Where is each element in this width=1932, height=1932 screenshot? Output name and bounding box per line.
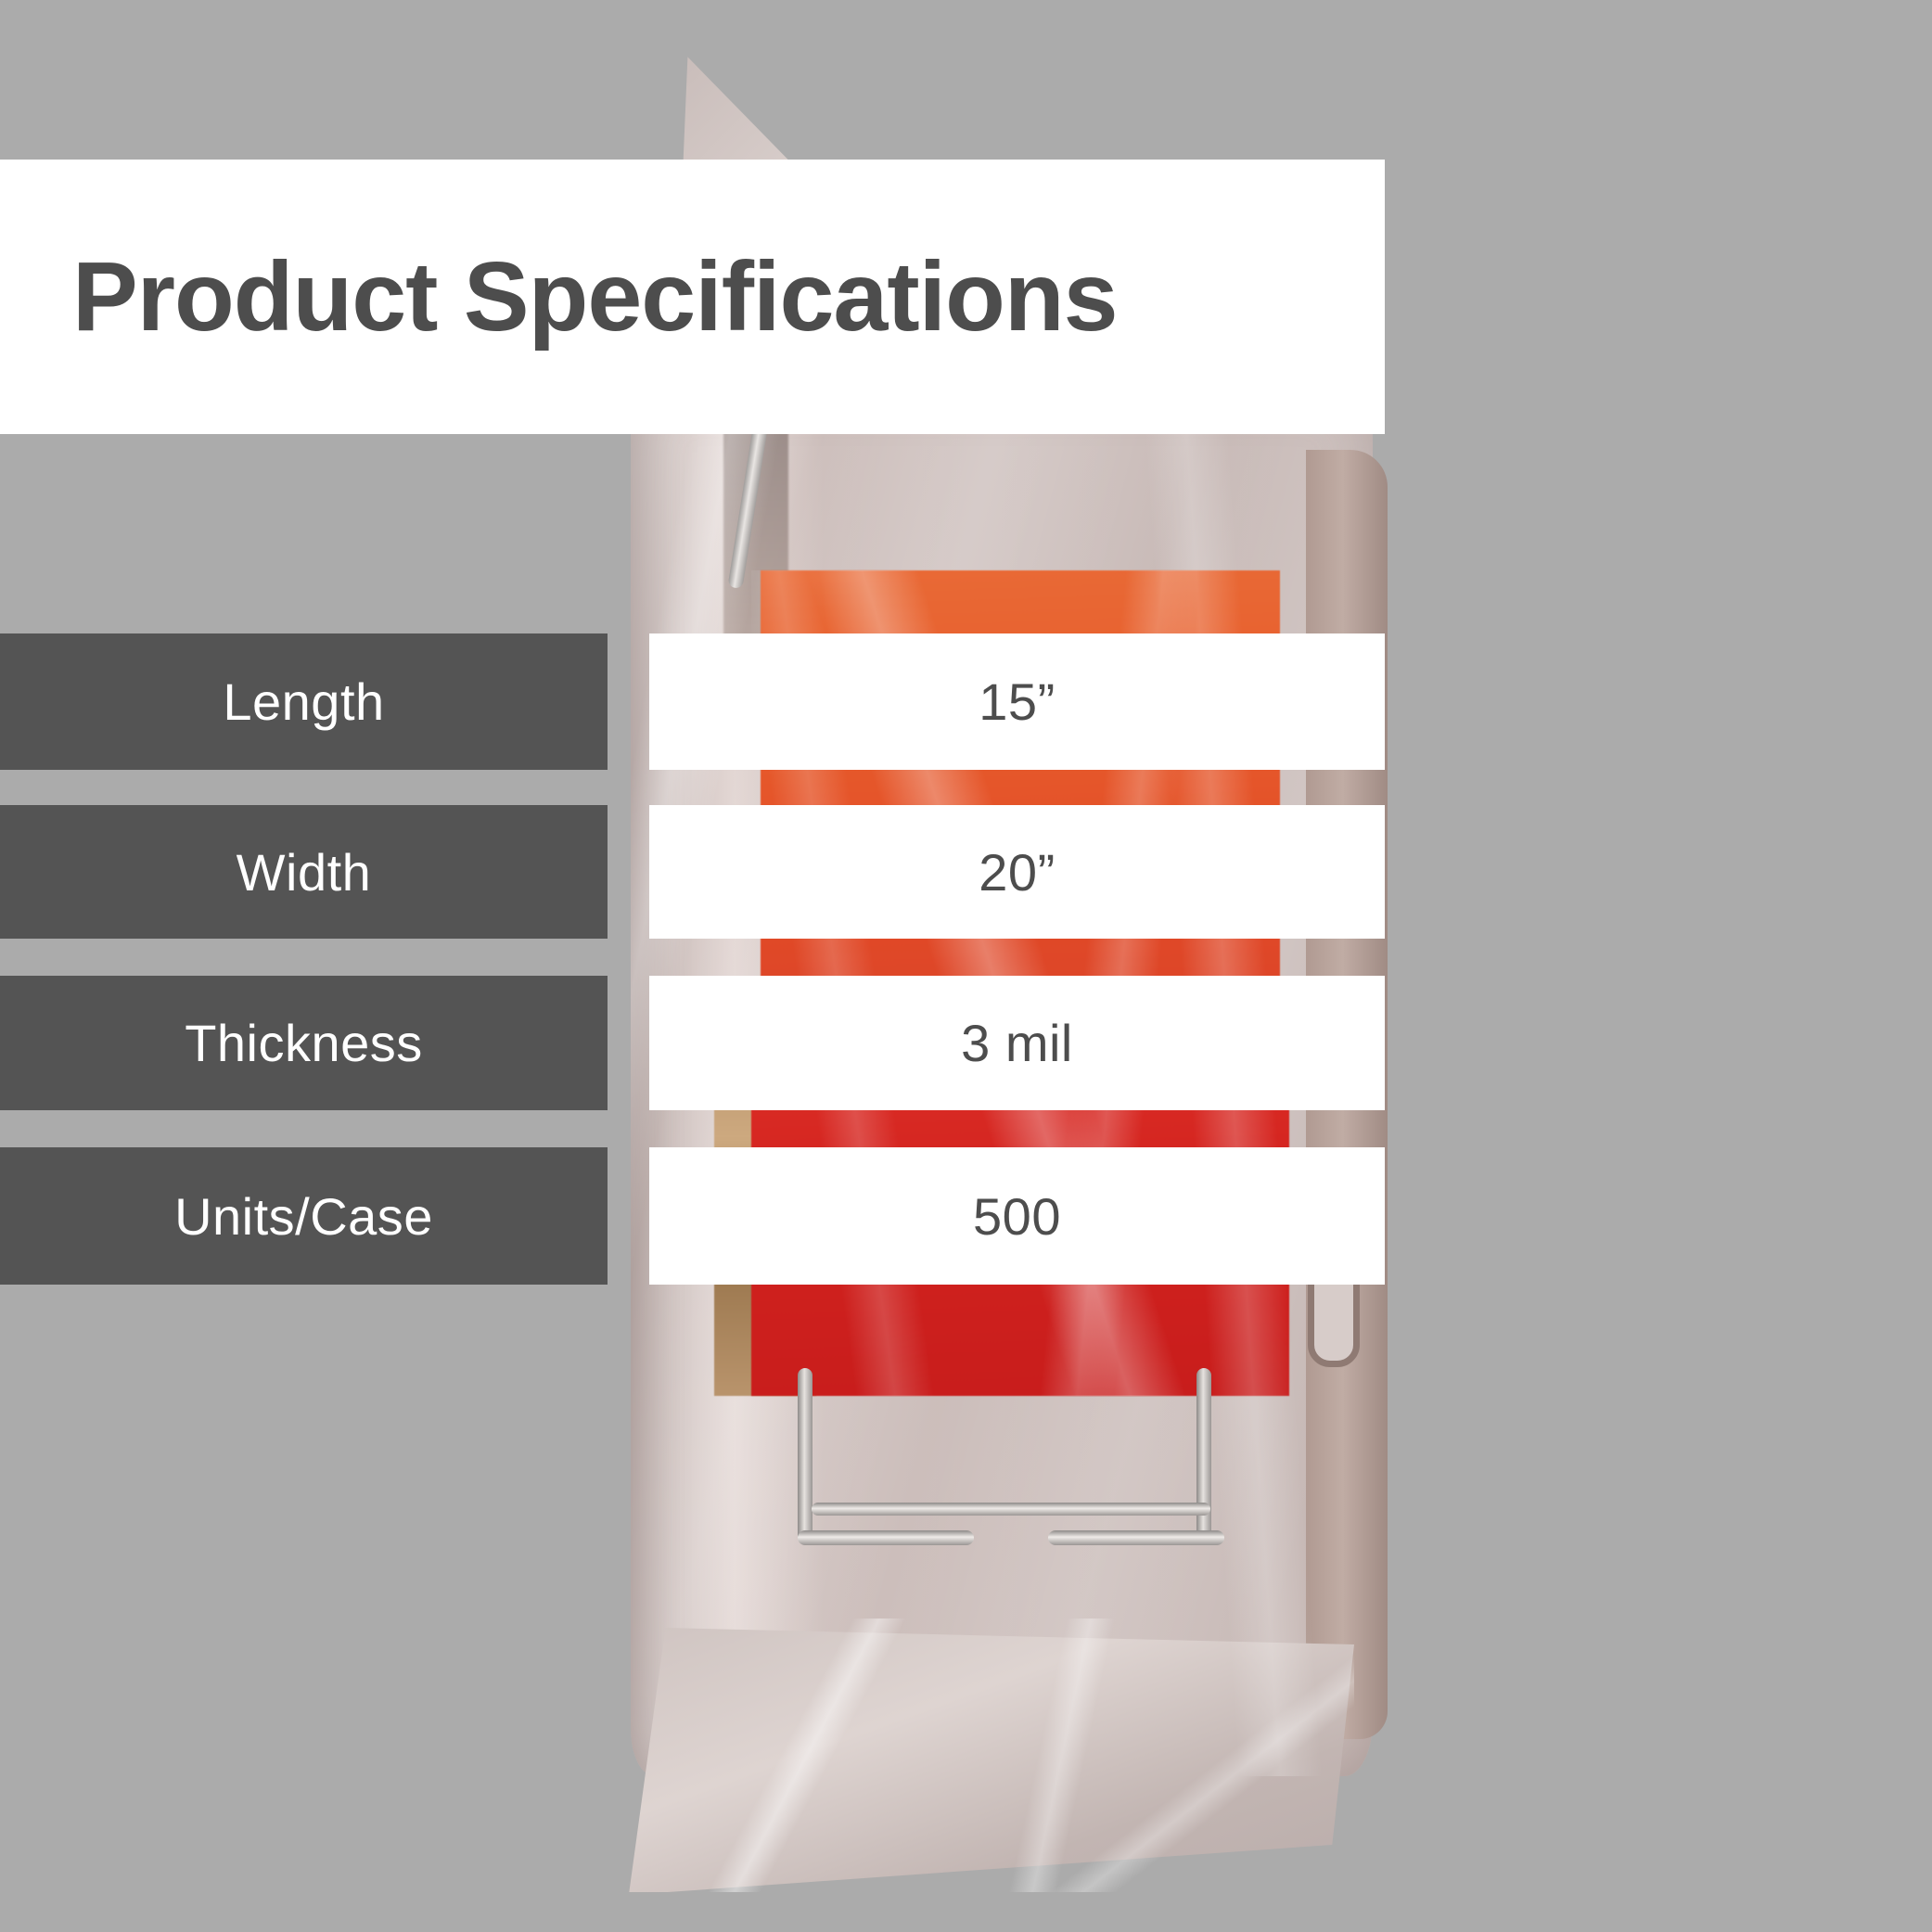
frame-tube-cross-rail: [812, 1503, 1210, 1516]
spec-value-thickness: 3 mil: [649, 976, 1385, 1110]
spec-label-thickness: Thickness: [0, 976, 608, 1110]
spec-value-length: 15”: [649, 633, 1385, 770]
spec-value-units-case: 500: [649, 1147, 1385, 1285]
spec-value-width: 20”: [649, 805, 1385, 939]
frame-tube-right-foot: [1048, 1530, 1224, 1545]
bag-bottom-fold: [621, 1628, 1354, 1892]
frame-tube-left-leg: [798, 1368, 812, 1544]
spec-label-width: Width: [0, 805, 608, 939]
frame-tube-right-leg: [1196, 1368, 1211, 1544]
title-banner: Product Specifications: [0, 160, 1385, 434]
page-title: Product Specifications: [72, 248, 1118, 346]
frame-tube-left-foot: [798, 1530, 974, 1545]
spec-label-units-case: Units/Case: [0, 1147, 608, 1285]
spec-label-length: Length: [0, 633, 608, 770]
